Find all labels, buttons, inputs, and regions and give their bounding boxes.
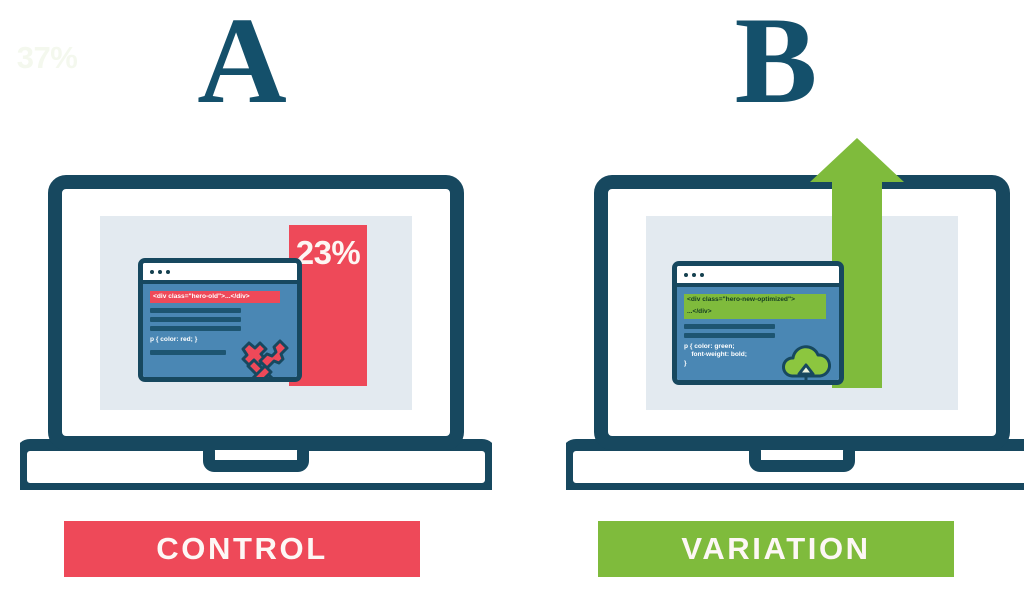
- metric-value-variation: 37%: [0, 40, 94, 76]
- code-highlight-variation-line2: ...</div>: [684, 306, 826, 318]
- window-dot-icon: [166, 270, 170, 274]
- code-placeholder-lines-control: [150, 308, 290, 331]
- variant-label-text: VARIATION: [681, 531, 870, 567]
- variant-letter-a: A: [142, 2, 342, 120]
- code-window-titlebar-variation: [677, 266, 839, 287]
- window-dot-icon: [684, 273, 688, 277]
- cloud-upload-icon: [777, 338, 835, 385]
- code-placeholder-lines-variation: [684, 324, 832, 338]
- code-line: [150, 317, 241, 322]
- variant-label-control: CONTROL: [64, 521, 420, 577]
- code-line: [150, 326, 241, 331]
- hammer-wrench-icon: [235, 335, 293, 382]
- variant-label-variation: VARIATION: [598, 521, 954, 577]
- code-highlight-variation-line1: <div class="hero-new-optimized">: [684, 294, 826, 306]
- code-line: [150, 308, 241, 313]
- window-dot-icon: [700, 273, 704, 277]
- ab-test-illustration: A 23% <div class="hero-old">...<: [0, 0, 1024, 597]
- code-line: [684, 333, 775, 338]
- code-body-variation: <div class="hero-new-optimized"> ...</di…: [677, 287, 839, 385]
- window-dot-icon: [692, 273, 696, 277]
- code-window-control: <div class="hero-old">...</div> p { colo…: [138, 258, 302, 382]
- code-highlight-control: <div class="hero-old">...</div>: [150, 291, 280, 303]
- window-dot-icon: [150, 270, 154, 274]
- code-body-control: <div class="hero-old">...</div> p { colo…: [143, 284, 297, 382]
- variant-letter-b: B: [676, 2, 876, 120]
- code-window-variation: <div class="hero-new-optimized"> ...</di…: [672, 261, 844, 385]
- code-line: [150, 350, 226, 355]
- window-dot-icon: [158, 270, 162, 274]
- variant-label-text: CONTROL: [156, 531, 327, 567]
- variant-panel-control: A 23% <div class="hero-old">...<: [0, 0, 512, 597]
- code-window-titlebar-control: [143, 263, 297, 284]
- code-line: [684, 324, 775, 329]
